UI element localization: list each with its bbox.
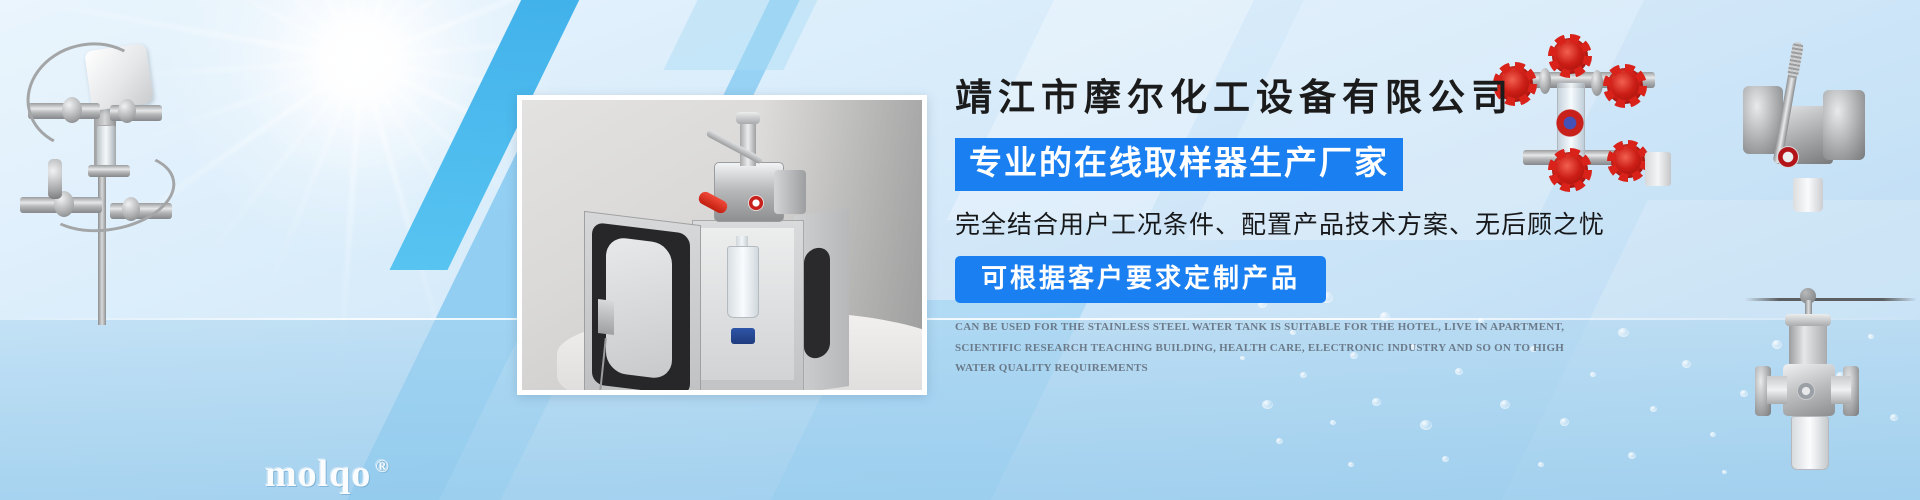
water-droplet	[1442, 456, 1449, 462]
bottom-valve-brand-logo-icon	[1797, 382, 1815, 400]
product-left-sampling-valve-assembly	[10, 25, 200, 325]
sun-ray	[300, 0, 362, 60]
watermark-text: molqo	[265, 453, 371, 495]
valve-brand-logo-icon	[748, 195, 764, 211]
lever-valve-brand-logo-icon	[1777, 146, 1799, 168]
water-droplet	[1262, 400, 1273, 409]
water-droplet	[1500, 400, 1510, 409]
bottom-valve-sample-bottle	[1791, 416, 1829, 470]
sun-ray	[206, 59, 361, 257]
promotional-banner: molqo® 靖江市摩尔化工设备有限公司 专业的在线取样器生产厂家 完全结合用户…	[0, 0, 1920, 500]
water-droplet	[1560, 418, 1569, 426]
water-droplet	[1276, 438, 1283, 444]
water-droplet	[1372, 398, 1381, 406]
sun-ray	[195, 0, 363, 61]
sun-ray	[177, 0, 361, 61]
valve-flange	[774, 170, 806, 214]
stripe-accent-5	[663, 0, 856, 70]
blue-bottle-cap	[731, 328, 755, 344]
product-bottom-sampling-valve	[1745, 278, 1920, 473]
water-droplet	[1538, 462, 1544, 467]
cabinet-door-window	[606, 236, 672, 380]
brand-watermark: molqo®	[265, 452, 390, 496]
sample-bottle	[727, 246, 759, 318]
water-droplet	[1420, 420, 1432, 430]
sun-ray	[360, 0, 465, 60]
tagline-primary-highlight: 专业的在线取样器生产厂家	[955, 138, 1403, 191]
tubing-loop-lower	[34, 142, 181, 242]
product-photo-sampling-cabinet	[517, 95, 927, 395]
water-droplet	[1650, 406, 1657, 412]
custom-product-badge: 可根据客户要求定制产品	[955, 256, 1326, 304]
tagline-secondary: 完全结合用户工况条件、配置产品技术方案、无后顾之忧	[955, 210, 1695, 240]
lever-valve-handle-grip	[1787, 41, 1804, 78]
water-droplet	[1710, 432, 1716, 437]
bottom-valve-pipe-left	[1767, 376, 1787, 404]
water-droplet	[1722, 470, 1727, 474]
sun-ray	[361, 33, 610, 61]
water-droplet	[1330, 420, 1336, 425]
product-flanged-lever-valve	[1705, 28, 1910, 213]
cabinet-side-gasket	[804, 246, 830, 360]
water-droplet	[1348, 462, 1354, 467]
sun-ray	[360, 0, 371, 60]
english-description: CAN BE USED FOR THE STAINLESS STEEL WATE…	[955, 317, 1580, 378]
bottom-valve-bonnet-cap	[1785, 314, 1831, 326]
registered-trademark-icon: ®	[375, 456, 389, 476]
valve-knob	[736, 112, 760, 124]
sun-ray	[266, 60, 362, 293]
bottom-valve-crossbar	[1745, 298, 1917, 301]
bottom-valve-pipe-right	[1831, 376, 1851, 404]
lever-valve-flange-right	[1823, 90, 1865, 160]
sun-ray	[360, 0, 501, 61]
handwheel-top-icon	[1552, 38, 1588, 74]
cabinet-door-latch	[598, 299, 614, 335]
lever-valve-outlet-bottle	[1793, 178, 1823, 212]
company-title: 靖江市摩尔化工设备有限公司	[955, 78, 1695, 121]
banner-text-block: 靖江市摩尔化工设备有限公司 专业的在线取样器生产厂家 完全结合用户工况条件、配置…	[955, 78, 1695, 389]
water-droplet	[1628, 452, 1636, 459]
